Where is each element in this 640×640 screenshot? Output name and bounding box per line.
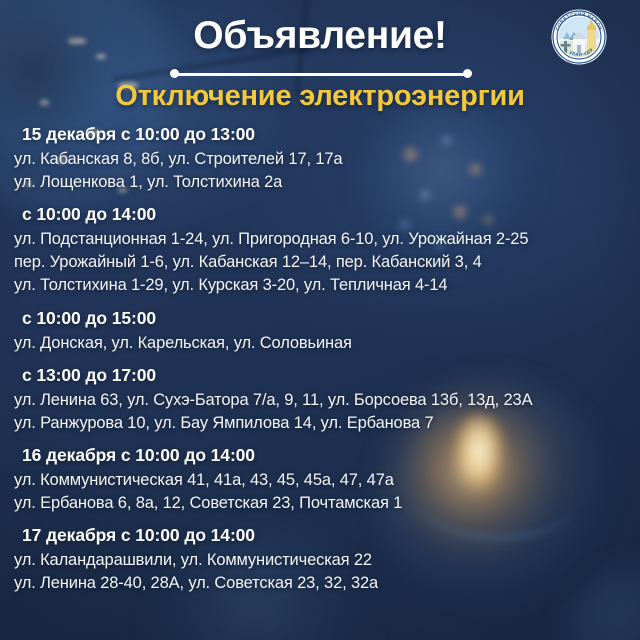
outage-address-line: ул. Донская, ул. Карельская, ул. Соловьи… [14,332,640,354]
page-subtitle: Отключение электроэнергии [0,80,640,113]
divider-dot-right [463,69,472,78]
outage-time-heading: 16 декабря с 10:00 до 14:00 [22,445,640,466]
outage-time-heading: с 10:00 до 14:00 [22,204,640,225]
outage-block: 16 декабря с 10:00 до 14:00 ул. Коммунис… [0,445,640,514]
outage-address-line: ул. Подстанционная 1-24, ул. Пригородная… [14,228,640,250]
outage-schedule-list: 15 декабря с 10:00 до 13:00 ул. Кабанска… [0,124,640,605]
title-divider [170,69,472,79]
outage-address-line: ул. Толстихина 1-29, ул. Курская 3-20, у… [14,274,640,296]
outage-address-line: ул. Ленина 63, ул. Сухэ-Батора 7/а, 9, 1… [14,389,640,411]
announcement-poster: СОВЕТСКИЙ РАЙОН г. УЛАН-УДЭ Объявление! … [0,0,640,640]
outage-block: 17 декабря с 10:00 до 14:00 ул. Каландар… [0,525,640,594]
outage-block: с 10:00 до 14:00 ул. Подстанционная 1-24… [0,204,640,296]
outage-time-heading: с 13:00 до 17:00 [22,365,640,386]
outage-block: с 10:00 до 15:00 ул. Донская, ул. Карель… [0,308,640,354]
outage-time-heading: с 10:00 до 15:00 [22,308,640,329]
outage-time-heading: 15 декабря с 10:00 до 13:00 [22,124,640,145]
outage-address-line: ул. Коммунистическая 41, 41а, 43, 45, 45… [14,469,640,491]
outage-address-line: ул. Кабанская 8, 8б, ул. Строителей 17, … [14,148,640,170]
outage-address-line: пер. Урожайный 1-6, ул. Кабанская 12–14,… [14,251,640,273]
outage-block: с 13:00 до 17:00 ул. Ленина 63, ул. Сухэ… [0,365,640,434]
outage-time-heading: 17 декабря с 10:00 до 14:00 [22,525,640,546]
outage-address-line: ул. Ленина 28-40, 28А, ул. Советская 23,… [14,572,640,594]
outage-address-line: ул. Лощенкова 1, ул. Толстихина 2а [14,171,640,193]
outage-address-line: ул. Ербанова 6, 8а, 12, Советская 23, По… [14,492,640,514]
poster-content: СОВЕТСКИЙ РАЙОН г. УЛАН-УДЭ Объявление! … [0,0,640,640]
outage-block: 15 декабря с 10:00 до 13:00 ул. Кабанска… [0,124,640,193]
divider-bar [175,73,467,76]
outage-address-line: ул. Ранжурова 10, ул. Бау Ямпилова 14, у… [14,412,640,434]
outage-address-line: ул. Каландарашвили, ул. Коммунистическая… [14,549,640,571]
page-title: Объявление! [0,14,640,58]
